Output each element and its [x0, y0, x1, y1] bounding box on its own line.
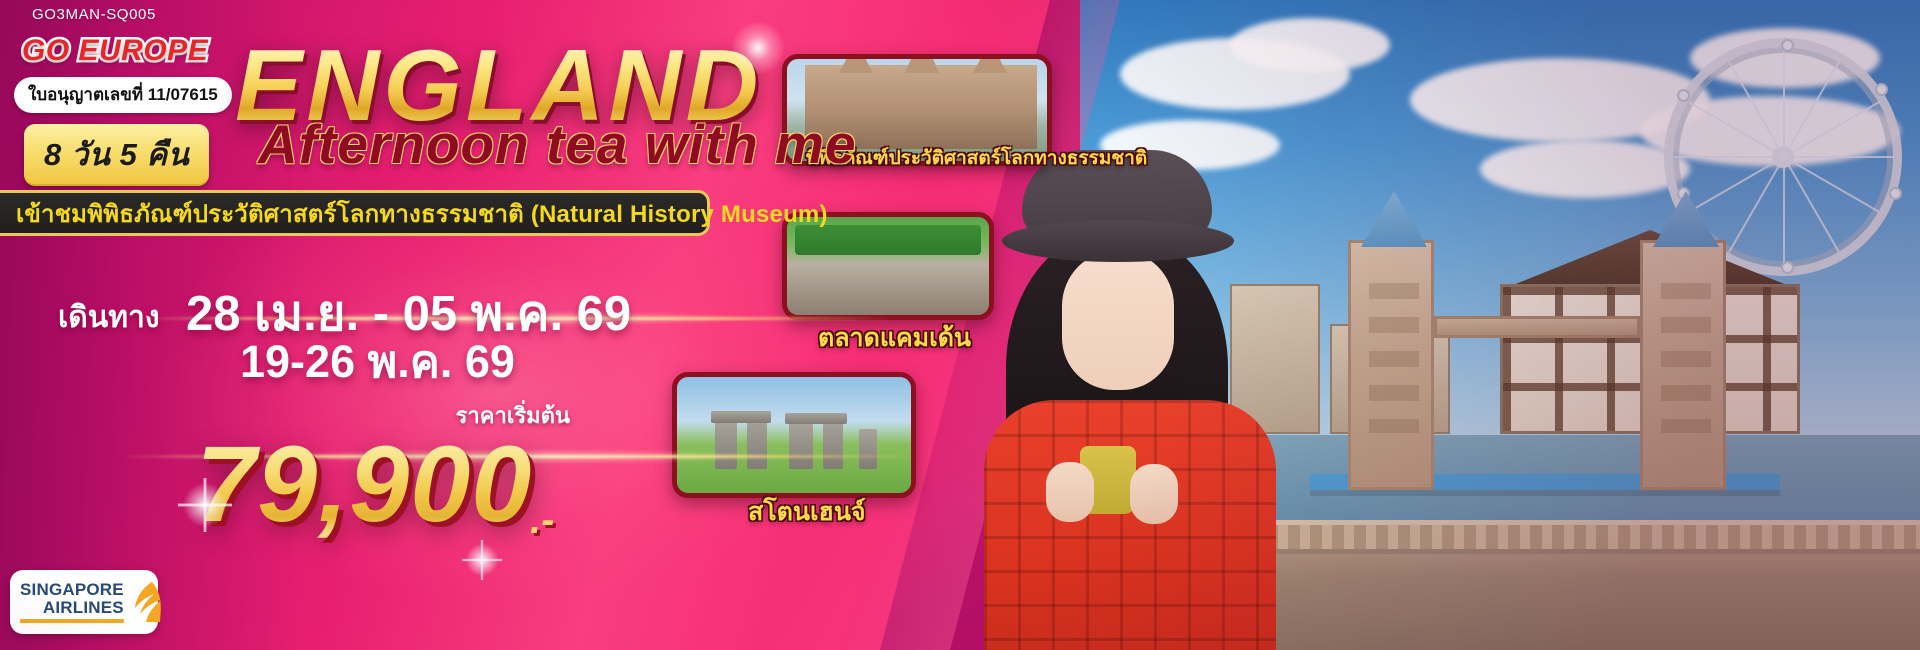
page-subtitle: Afternoon tea with me	[258, 112, 857, 176]
travel-promo-banner: พิพิธภัณฑ์ประวัติศาสตร์โลกทางธรรมชาติ ตล…	[0, 0, 1920, 650]
price-suffix: .-	[530, 498, 554, 543]
brand-logo-go-europe: GO EUROPE	[22, 34, 208, 68]
model-photo-woman-with-tea	[950, 150, 1280, 650]
cloud	[1480, 140, 1690, 198]
tower-bridge-tower	[1348, 240, 1434, 490]
license-badge: ใบอนุญาตเลขที่ 11/07615	[14, 77, 232, 113]
highlight-bar: เข้าชมพิพิธภัณฑ์ประวัติศาสตร์โลกทางธรรมช…	[0, 190, 710, 236]
tower-bridge-upper-walkway	[1434, 316, 1640, 338]
photo-thumbnail-stonehenge[interactable]	[672, 372, 916, 498]
airline-underline	[20, 619, 124, 623]
highlight-text: เข้าชมพิพิธภัณฑ์ประวัติศาสตร์โลกทางธรรมช…	[0, 194, 828, 233]
tower-bridge-tower	[1640, 240, 1726, 490]
model-hand	[1130, 464, 1178, 524]
museum-spire	[973, 54, 1007, 73]
model-hand	[1046, 462, 1094, 522]
airline-name-line2: AIRLINES	[20, 599, 124, 616]
duration-badge: 8 วัน 5 คืน	[24, 124, 209, 186]
model-red-plaid-coat	[984, 400, 1276, 650]
photo-caption-museum: พิพิธภัณฑ์ประวัติศาสตร์โลกทางธรรมชาติ	[806, 143, 1147, 173]
photo-caption-stonehenge: สโตนเฮนจ์	[748, 492, 866, 532]
cloud	[1230, 18, 1390, 72]
product-code: GO3MAN-SQ005	[32, 6, 156, 23]
plaid-pattern	[984, 400, 1276, 650]
airline-name-line1: SINGAPORE	[20, 581, 124, 598]
travel-label: เดินทาง	[58, 294, 160, 341]
singapore-airlines-bird-icon	[130, 580, 166, 624]
airline-logo: SINGAPORE AIRLINES	[10, 570, 158, 634]
museum-spire	[839, 54, 873, 73]
model-hat-brim	[1002, 220, 1234, 262]
museum-spire	[905, 54, 939, 73]
price-amount: 79,900	[196, 430, 532, 538]
title-sparkle-icon	[730, 20, 786, 76]
stonehenge-photo	[677, 377, 911, 493]
photo-caption-camden: ตลาดแคมเด้น	[818, 318, 971, 358]
travel-date-2: 19-26 พ.ค. 69	[240, 325, 515, 397]
model-face	[1062, 250, 1174, 390]
